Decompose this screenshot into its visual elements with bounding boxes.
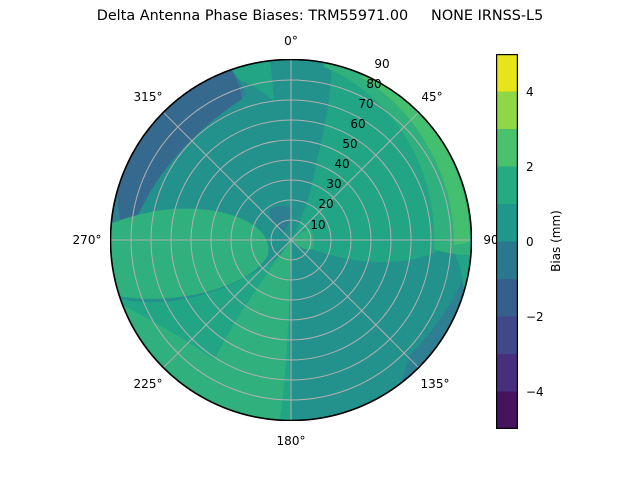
radial-label-70: 70 xyxy=(358,97,373,111)
angle-label-0: 0° xyxy=(284,34,298,48)
colorbar-band-6 xyxy=(496,167,518,205)
radial-label-80: 80 xyxy=(366,77,381,91)
colorbar-tick-label-4: 4 xyxy=(526,85,534,99)
colorbar-band-1 xyxy=(496,354,518,392)
angle-label-180: 180° xyxy=(277,434,306,448)
angle-label-315: 315° xyxy=(134,90,163,104)
polar-grid-spokes xyxy=(111,60,471,420)
colorbar-band-8 xyxy=(496,92,518,130)
colorbar-band-0 xyxy=(496,392,518,430)
radial-label-30: 30 xyxy=(326,177,341,191)
colorbar-tick-label-2: 2 xyxy=(526,160,534,174)
angle-label-270: 270° xyxy=(73,233,102,247)
colorbar[interactable]: 4 2 0 −2 −4 xyxy=(496,54,518,429)
colorbar-gradient xyxy=(496,54,518,429)
angle-label-45: 45° xyxy=(421,90,442,104)
radial-label-20: 20 xyxy=(318,197,333,211)
colorbar-band-3 xyxy=(496,279,518,317)
radial-label-60: 60 xyxy=(350,117,365,131)
colorbar-tick-label-minus4: −4 xyxy=(526,385,544,399)
angle-label-135: 135° xyxy=(421,377,450,391)
radial-label-40: 40 xyxy=(334,157,349,171)
radial-label-10: 10 xyxy=(310,218,325,232)
polar-plot-svg xyxy=(110,59,472,421)
page-title: Delta Antenna Phase Biases: TRM55971.00 … xyxy=(0,8,640,24)
angle-label-225: 225° xyxy=(134,377,163,391)
colorbar-tick-label-0: 0 xyxy=(526,235,534,249)
colorbar-axis-label: Bias (mm) xyxy=(549,210,563,272)
colorbar-band-9 xyxy=(496,54,518,92)
colorbar-band-5 xyxy=(496,204,518,242)
colorbar-band-4 xyxy=(496,242,518,280)
radial-label-90: 90 xyxy=(374,57,389,71)
colorbar-bands xyxy=(496,54,518,429)
colorbar-tick-label-minus2: −2 xyxy=(526,310,544,324)
colorbar-band-2 xyxy=(496,317,518,355)
radial-label-50: 50 xyxy=(342,137,357,151)
polar-axes[interactable]: 0° 45° 90 135° 180° 225° 270° 315° 10 20… xyxy=(110,59,472,421)
figure-canvas: Delta Antenna Phase Biases: TRM55971.00 … xyxy=(0,0,640,480)
colorbar-band-7 xyxy=(496,129,518,167)
